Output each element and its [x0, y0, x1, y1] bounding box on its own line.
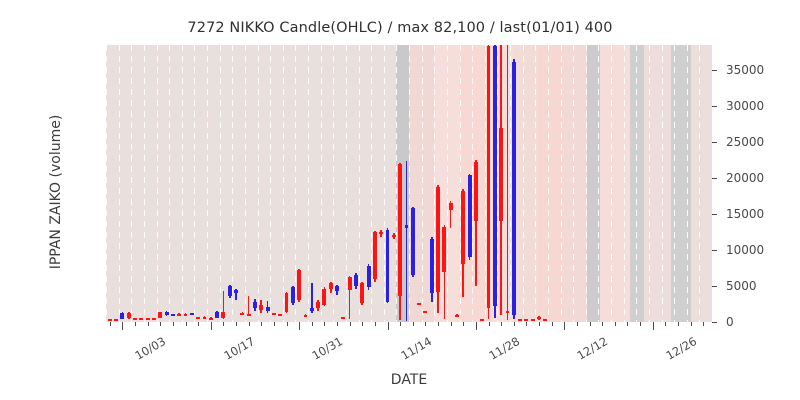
- y-tick: [712, 286, 717, 287]
- candle-wick: [216, 311, 218, 318]
- candle-body: [234, 290, 238, 293]
- grid-line-vertical: [144, 45, 145, 322]
- grid-line-vertical: [194, 45, 195, 322]
- candle-wick: [147, 318, 149, 319]
- candle-body: [367, 266, 371, 288]
- x-tick-minor: [602, 322, 603, 326]
- candle-body: [348, 277, 352, 289]
- candle-wick: [324, 287, 326, 306]
- grid-line-vertical: [662, 45, 663, 322]
- x-tick-label: 11/14: [398, 334, 434, 363]
- grid-line-vertical: [460, 45, 461, 322]
- candle-wick: [109, 319, 111, 320]
- grid-line-vertical: [636, 45, 637, 322]
- grid-line-vertical: [359, 45, 360, 322]
- candle-wick: [330, 282, 332, 294]
- candle-wick: [311, 283, 313, 312]
- candle-body: [133, 318, 137, 320]
- x-tick-minor: [463, 322, 464, 326]
- candle-wick: [393, 233, 395, 239]
- candle-wick: [286, 292, 288, 313]
- grid-line-vertical: [447, 45, 448, 322]
- x-tick-minor: [110, 322, 111, 326]
- x-tick-minor: [627, 322, 628, 326]
- candle-body: [373, 232, 377, 279]
- candle-body: [291, 287, 295, 303]
- highlight-band: [600, 45, 630, 322]
- candle-body: [379, 232, 383, 234]
- grid-line-vertical: [409, 45, 410, 322]
- candle-body: [329, 283, 333, 289]
- candle-body: [253, 302, 257, 308]
- candle-body: [108, 319, 112, 321]
- grid-line-vertical: [333, 45, 334, 322]
- y-tick-label: 0: [726, 315, 734, 329]
- candle-body: [221, 312, 225, 319]
- grid-line-vertical: [422, 45, 423, 322]
- grid-line-vertical: [131, 45, 132, 322]
- candle-wick: [122, 312, 124, 319]
- candle-wick: [305, 314, 307, 315]
- candle-wick: [343, 317, 345, 318]
- x-tick-minor: [236, 322, 237, 326]
- x-tick-minor: [501, 322, 502, 326]
- candle-body: [114, 319, 118, 321]
- x-tick-label: 12/12: [575, 334, 611, 363]
- x-tick-minor: [425, 322, 426, 326]
- candle-body: [127, 313, 131, 319]
- x-axis-title: DATE: [106, 372, 712, 388]
- grid-line-vertical: [535, 45, 536, 322]
- grid-line-vertical: [245, 45, 246, 322]
- candle-wick: [197, 317, 199, 318]
- candle-wick: [178, 313, 180, 315]
- x-tick-minor: [312, 322, 313, 326]
- candle-body: [209, 318, 213, 320]
- candle-body: [354, 275, 358, 286]
- candle-wick: [166, 311, 168, 315]
- grid-line-vertical: [611, 45, 612, 322]
- candle-body: [247, 314, 251, 316]
- candle-body: [285, 293, 289, 312]
- candle-body: [297, 270, 301, 300]
- x-tick-major: [388, 322, 389, 330]
- candle-wick: [235, 289, 237, 300]
- grid-line-vertical: [561, 45, 562, 322]
- grid-line-vertical: [169, 45, 170, 322]
- candle-wick: [134, 318, 136, 319]
- candle-wick: [361, 282, 363, 306]
- grid-line-vertical: [586, 45, 587, 322]
- candle-wick: [368, 264, 370, 290]
- x-tick-label: 12/26: [663, 334, 699, 363]
- candle-wick: [267, 301, 269, 313]
- candle-wick: [185, 313, 187, 314]
- candle-wick: [159, 312, 161, 319]
- grid-line-vertical: [346, 45, 347, 322]
- x-tick-major: [122, 322, 123, 330]
- grid-line-vertical: [232, 45, 233, 322]
- candle-wick: [260, 300, 262, 313]
- x-tick-minor: [261, 322, 262, 326]
- x-tick-label: 10/31: [310, 334, 346, 363]
- y-tick-label: 20000: [726, 171, 764, 185]
- candle-body: [139, 318, 143, 320]
- grid-line-vertical: [270, 45, 271, 322]
- x-tick-minor: [413, 322, 414, 326]
- x-tick-minor: [135, 322, 136, 326]
- candle-body: [152, 318, 156, 320]
- x-tick-label: 10/17: [221, 334, 257, 363]
- candle-body: [203, 317, 207, 319]
- candle-wick: [355, 273, 357, 289]
- candle-wick: [349, 276, 351, 319]
- candle-body: [158, 312, 162, 318]
- x-tick-minor: [514, 322, 515, 326]
- grid-line-vertical: [674, 45, 675, 322]
- highlight-band: [564, 45, 587, 322]
- x-tick-minor: [362, 322, 363, 326]
- candle-body: [171, 314, 175, 316]
- x-tick-minor: [665, 322, 666, 326]
- candle-wick: [115, 319, 117, 320]
- candle-body: [146, 318, 150, 320]
- candle-body: [304, 315, 308, 317]
- x-tick-minor: [173, 322, 174, 326]
- x-tick-minor: [590, 322, 591, 326]
- grid-line-vertical: [182, 45, 183, 322]
- y-tick: [712, 250, 717, 251]
- x-tick-minor: [337, 322, 338, 326]
- grid-line-vertical: [321, 45, 322, 322]
- x-tick-minor: [615, 322, 616, 326]
- candle-wick: [242, 312, 244, 313]
- x-tick-minor: [400, 322, 401, 326]
- grid-line-vertical: [573, 45, 574, 322]
- x-tick-minor: [489, 322, 490, 326]
- candle-body: [360, 283, 364, 303]
- grid-line-vertical: [308, 45, 309, 322]
- candle-body: [266, 307, 270, 311]
- x-tick-minor: [640, 322, 641, 326]
- y-tick-label: 25000: [726, 135, 764, 149]
- x-tick-label: 10/03: [133, 334, 169, 363]
- x-tick-minor: [249, 322, 250, 326]
- x-tick-major: [564, 322, 565, 330]
- x-tick-minor: [703, 322, 704, 326]
- grid-line-vertical: [523, 45, 524, 322]
- grid-line-vertical: [207, 45, 208, 322]
- candle-wick: [191, 313, 193, 314]
- grid-line-vertical: [434, 45, 435, 322]
- candle-body: [272, 313, 276, 315]
- y-tick: [712, 214, 717, 215]
- candle-body: [341, 317, 345, 319]
- grid-line-vertical: [649, 45, 650, 322]
- y-tick: [712, 322, 717, 323]
- grid-line-vertical: [624, 45, 625, 322]
- candle-wick: [210, 317, 212, 318]
- y-tick-label: 15000: [726, 207, 764, 221]
- candle-body: [322, 289, 326, 305]
- grid-line-vertical: [699, 45, 700, 322]
- candle-body: [392, 235, 396, 237]
- candle-body: [240, 313, 244, 315]
- candle-wick: [172, 314, 174, 316]
- grid-line-vertical: [295, 45, 296, 322]
- candle-body: [386, 230, 390, 302]
- highlight-band: [691, 45, 712, 322]
- x-tick-minor: [274, 322, 275, 326]
- y-tick-label: 35000: [726, 63, 764, 77]
- candle-wick: [317, 300, 319, 311]
- candle-body: [215, 312, 219, 318]
- candle-wick: [292, 286, 294, 305]
- y-tick: [712, 178, 717, 179]
- candle-wick: [223, 291, 225, 319]
- candle-body: [310, 308, 314, 312]
- x-tick-minor: [451, 322, 452, 326]
- candle-wick: [248, 296, 250, 315]
- candle-body: [228, 286, 232, 296]
- candle-body: [165, 312, 169, 315]
- candle-wick: [153, 318, 155, 319]
- candle-body: [177, 314, 181, 316]
- x-tick-minor: [160, 322, 161, 326]
- x-tick-major: [476, 322, 477, 330]
- y-tick-label: 5000: [726, 279, 757, 293]
- x-tick-minor: [198, 322, 199, 326]
- y-tick: [712, 106, 717, 107]
- candle-wick: [229, 285, 231, 298]
- candle-wick: [336, 285, 338, 295]
- highlight-band: [460, 45, 488, 322]
- x-tick-minor: [324, 322, 325, 326]
- y-tick-label: 30000: [726, 99, 764, 113]
- candle-body: [120, 313, 124, 319]
- grid-line-vertical: [106, 45, 107, 322]
- grid-line-vertical: [157, 45, 158, 322]
- y-tick-label: 10000: [726, 243, 764, 257]
- x-tick-minor: [375, 322, 376, 326]
- candle-body: [335, 286, 339, 291]
- grid-line-vertical: [396, 45, 397, 322]
- grid-line-vertical: [485, 45, 486, 322]
- grid-line-vertical: [220, 45, 221, 322]
- grid-line-vertical: [384, 45, 385, 322]
- plot-area: [106, 45, 712, 322]
- candle-body: [184, 314, 188, 316]
- grid-line-vertical: [258, 45, 259, 322]
- grid-line-vertical: [371, 45, 372, 322]
- y-axis-ticks: [712, 45, 721, 322]
- x-tick-major: [653, 322, 654, 330]
- candle-wick: [387, 228, 389, 303]
- highlight-band: [644, 45, 671, 322]
- candle-wick: [298, 269, 300, 302]
- weekend-band: [396, 45, 409, 322]
- chart-title: 7272 NIKKO Candle(OHLC) / max 82,100 / l…: [0, 20, 800, 36]
- candle-wick: [141, 318, 143, 319]
- y-tick: [712, 70, 717, 71]
- x-tick-minor: [287, 322, 288, 326]
- grid-line-vertical: [510, 45, 511, 322]
- grid-line-vertical: [283, 45, 284, 322]
- grid-line-vertical: [548, 45, 549, 322]
- x-tick-minor: [350, 322, 351, 326]
- x-tick-minor: [438, 322, 439, 326]
- x-tick-minor: [552, 322, 553, 326]
- candle-wick: [380, 230, 382, 237]
- x-tick-minor: [526, 322, 527, 326]
- grid-line-vertical: [687, 45, 688, 322]
- candle-wick: [254, 299, 256, 311]
- candle-wick: [279, 314, 281, 315]
- x-tick-minor: [148, 322, 149, 326]
- chart-figure: 7272 NIKKO Candle(OHLC) / max 82,100 / l…: [0, 0, 800, 400]
- candle-body: [316, 302, 320, 308]
- x-tick-minor: [678, 322, 679, 326]
- grid-line-vertical: [497, 45, 498, 322]
- x-tick-major: [299, 322, 300, 330]
- candle-wick: [374, 231, 376, 282]
- candle-body: [278, 314, 282, 316]
- grid-line-vertical: [472, 45, 473, 322]
- candle-body: [196, 317, 200, 319]
- x-tick-major: [211, 322, 212, 330]
- x-tick-minor: [539, 322, 540, 326]
- candle-body: [259, 305, 263, 311]
- candle-wick: [273, 313, 275, 314]
- x-tick-minor: [186, 322, 187, 326]
- x-tick-minor: [223, 322, 224, 326]
- candle-wick: [204, 316, 206, 317]
- x-axis-ticks: [106, 322, 712, 331]
- grid-line-vertical: [598, 45, 599, 322]
- candle-wick: [128, 312, 130, 318]
- y-axis-title: IPPAN ZAIKO (volume): [48, 72, 64, 312]
- candle-body: [190, 313, 194, 315]
- x-tick-minor: [577, 322, 578, 326]
- grid-line-vertical: [119, 45, 120, 322]
- x-tick-label: 11/28: [486, 334, 522, 363]
- x-tick-minor: [691, 322, 692, 326]
- y-tick: [712, 142, 717, 143]
